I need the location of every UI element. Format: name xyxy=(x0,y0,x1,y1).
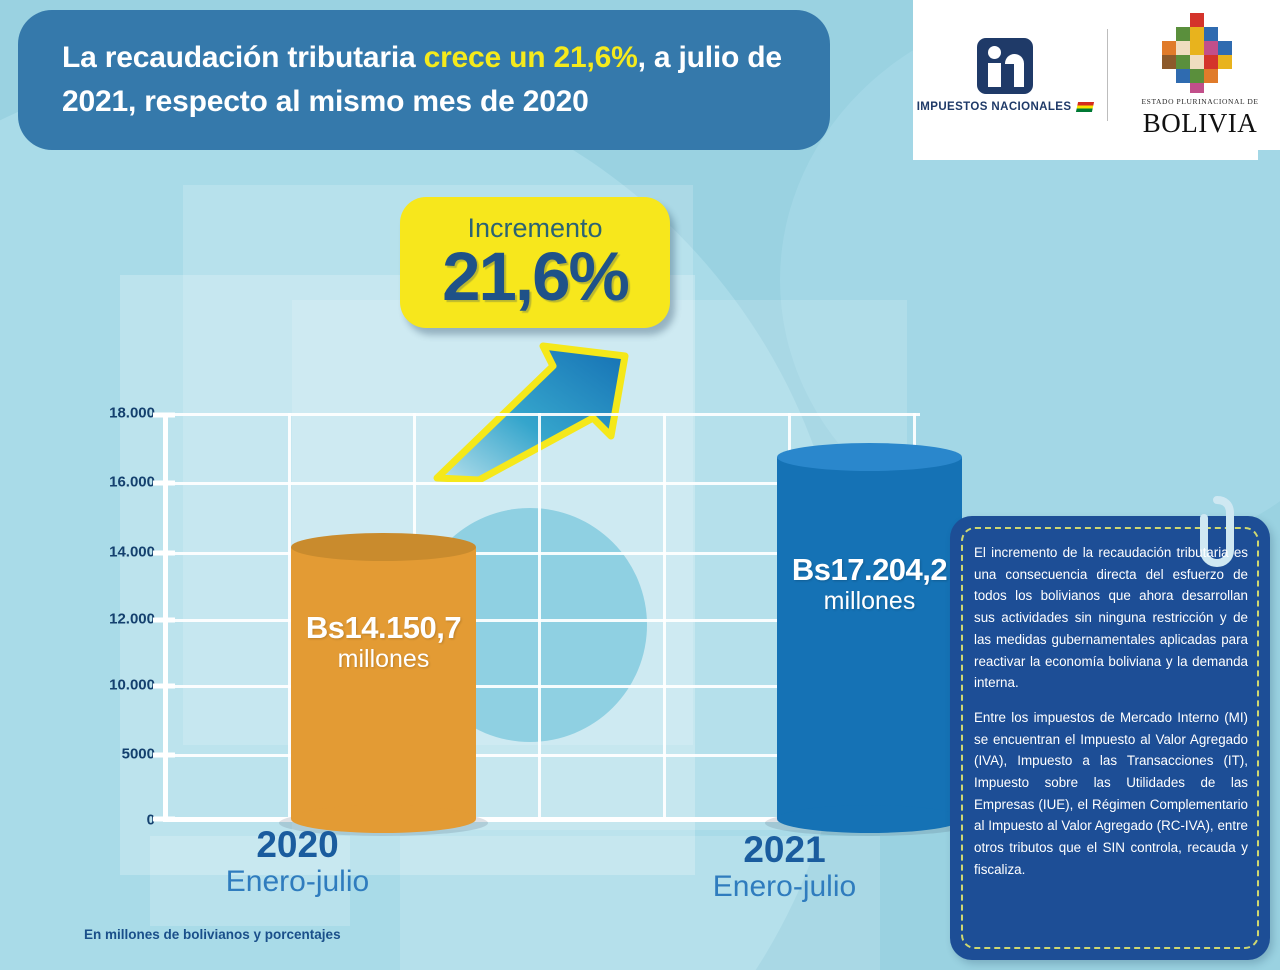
y-tick-16000: 16.000 xyxy=(109,474,155,491)
note-panel: El incremento de la recaudación tributar… xyxy=(950,516,1270,960)
y-tick-14000: 14.000 xyxy=(109,544,155,561)
tick-stub-5000 xyxy=(153,753,175,758)
gridline-v-3 xyxy=(538,413,541,822)
bar-2020-value-label: Bs14.150,7 millones xyxy=(291,611,476,674)
category-2021-year: 2021 xyxy=(672,830,897,870)
y-tick-5000: 5000 xyxy=(122,746,155,763)
impuestos-nacionales-icon xyxy=(977,38,1033,94)
bar-2021-value-label: Bs17.204,2 millones xyxy=(777,553,962,616)
bar-2020-amount: Bs14.150,7 xyxy=(291,611,476,645)
category-2021-period: Enero-julio xyxy=(672,870,897,903)
logo-card: IMPUESTOS NACIONALES xyxy=(913,0,1280,150)
note-panel-body: El incremento de la recaudación tributar… xyxy=(974,542,1248,940)
y-tick-12000: 12.000 xyxy=(109,611,155,628)
note-paragraph-2: Entre los impuestos de Mercado Interno (… xyxy=(974,707,1248,881)
category-2020-year: 2020 xyxy=(185,825,410,865)
bar-2021: Bs17.204,2 millones xyxy=(777,457,962,819)
bolivia-emblem-icon xyxy=(1158,13,1242,93)
plot-area: Bs14.150,7 millones Bs17.204,2 millones xyxy=(163,413,920,822)
logo-estado-bolivia: ESTADO PLURINACIONAL DE BOLIVIA xyxy=(1108,13,1280,137)
bar-2021-unit: millones xyxy=(777,587,962,616)
gridline-18000 xyxy=(163,413,920,416)
increment-badge: Incremento 21,6% xyxy=(400,197,670,328)
bar-2021-amount: Bs17.204,2 xyxy=(777,553,962,587)
bar-2020: Bs14.150,7 millones xyxy=(291,547,476,819)
logo-impuestos-nacionales: IMPUESTOS NACIONALES xyxy=(913,38,1107,113)
logo-state-line: ESTADO PLURINACIONAL DE xyxy=(1142,97,1259,106)
chart-footnote: En millones de bolivianos y porcentajes xyxy=(84,927,341,942)
logo-country-name: BOLIVIA xyxy=(1143,110,1257,137)
bar-2021-top-ellipse xyxy=(777,443,962,471)
bar-chart: 18.000 16.000 14.000 12.000 10.000 5000 … xyxy=(75,405,920,830)
note-paragraph-1: El incremento de la recaudación tributar… xyxy=(974,542,1248,694)
tick-stub-18000 xyxy=(153,413,175,418)
tick-stub-10000 xyxy=(153,684,175,689)
tick-stub-12000 xyxy=(153,618,175,623)
headline-accent: crece un 21,6% xyxy=(424,41,638,74)
tick-stub-0 xyxy=(153,817,175,822)
increment-badge-value: 21,6% xyxy=(442,242,628,312)
bar-2021-body xyxy=(777,457,962,819)
category-label-2020: 2020 Enero-julio xyxy=(185,825,410,898)
category-label-2021: 2021 Enero-julio xyxy=(672,830,897,903)
infographic-root: La recaudación tributaria crece un 21,6%… xyxy=(0,0,1280,970)
headline-text-part1: La recaudación tributaria xyxy=(62,41,424,74)
logo-sin-label: IMPUESTOS NACIONALES xyxy=(917,101,1072,113)
gridline-v-4 xyxy=(663,413,666,822)
bar-2020-unit: millones xyxy=(291,645,476,674)
y-axis: 18.000 16.000 14.000 12.000 10.000 5000 … xyxy=(75,405,155,830)
bolivia-flag-icon xyxy=(1076,102,1094,112)
y-tick-10000: 10.000 xyxy=(109,677,155,694)
tick-stub-16000 xyxy=(153,481,175,486)
y-tick-18000: 18.000 xyxy=(109,405,155,422)
headline-banner: La recaudación tributaria crece un 21,6%… xyxy=(18,10,830,150)
bar-2020-top-ellipse xyxy=(291,533,476,561)
bar-2020-body xyxy=(291,547,476,819)
tick-stub-14000 xyxy=(153,551,175,556)
logo-sin-text-row: IMPUESTOS NACIONALES xyxy=(917,101,1094,113)
category-2020-period: Enero-julio xyxy=(185,865,410,898)
